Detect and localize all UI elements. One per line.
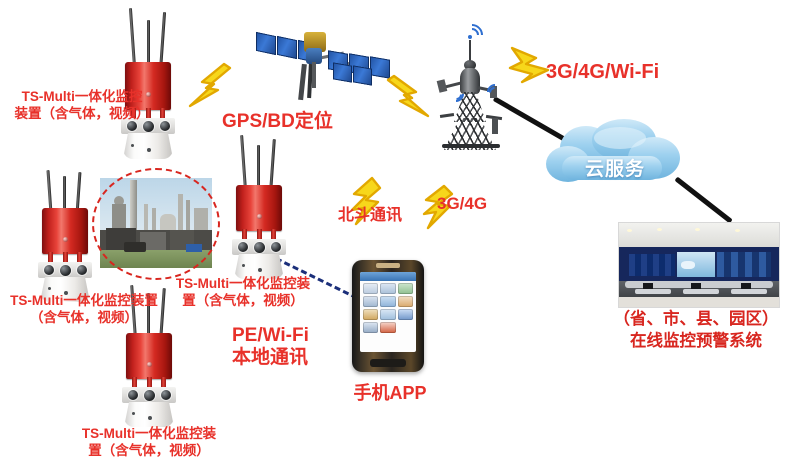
lightning-bolt-gps-left-icon <box>184 62 244 114</box>
cloud-label: 云服务 <box>540 154 690 181</box>
network-architecture-diagram: 云服务 <box>0 0 797 464</box>
monitoring-device-mid-right <box>216 135 302 280</box>
label-3g4g: 3G/4G <box>437 193 517 215</box>
app-icon-grid <box>363 283 413 333</box>
label-control-center: （省、市、县、园区） 在线监控预警系统 <box>596 308 796 353</box>
label-gps-bd: GPS/BD定位 <box>222 110 372 134</box>
label-3g4g-wifi: 3G/4G/Wi-Fi <box>546 60 726 86</box>
monitoring-device-top-left <box>105 8 191 158</box>
label-beidou: 北斗通讯 <box>338 206 448 226</box>
cloud-icon: 云服务 <box>540 118 690 196</box>
plant-highlight-circle <box>92 168 220 280</box>
label-device-mid-left: TS-Multi一体化监控装置 （含气体，视频） <box>0 292 168 327</box>
monitoring-device-mid-left <box>22 170 108 300</box>
control-room-photo <box>618 222 780 308</box>
rugged-handheld-icon <box>352 260 424 372</box>
label-device-mid-right: TS-Multi一体化监控装 置（含气体，视频） <box>160 275 326 310</box>
label-device-bottom-left: TS-Multi一体化监控装 置（含气体，视频） <box>68 425 230 460</box>
label-local-comm: PE/Wi-Fi 本地通讯 <box>232 325 352 370</box>
cell-tower-icon <box>430 18 520 158</box>
label-phone-app: 手机APP <box>340 382 440 405</box>
lightning-bolt-gps-right-icon <box>380 74 438 124</box>
label-device-top-left: TS-Multi一体化监控 装置（含气体，视频） <box>2 88 162 123</box>
